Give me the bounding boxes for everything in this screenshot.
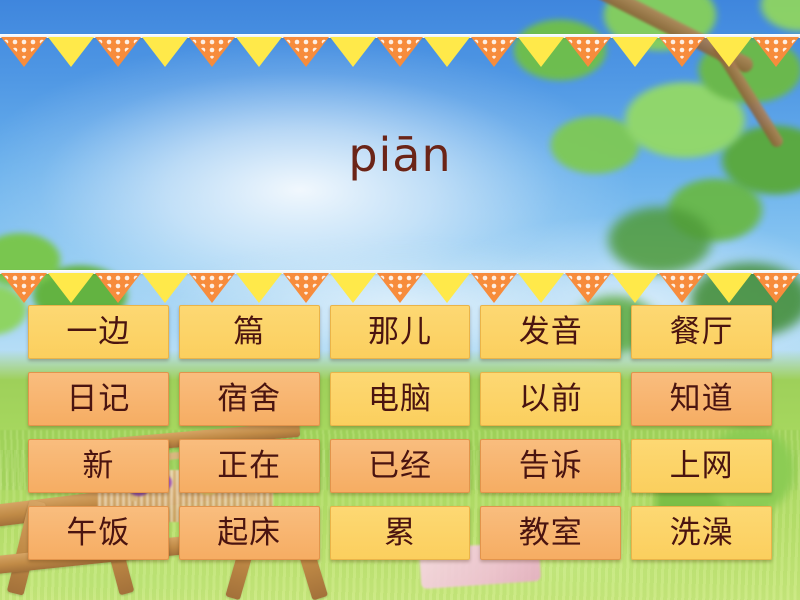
word-tile[interactable]: 篇 [179, 305, 320, 359]
word-tile[interactable]: 知道 [631, 372, 772, 426]
word-tile-grid: 一边篇那儿发音餐厅日记宿舍电脑以前知道新正在已经告诉上网午饭起床累教室洗澡 [28, 305, 772, 560]
word-tile[interactable]: 累 [330, 506, 471, 560]
word-tile[interactable]: 那儿 [330, 305, 471, 359]
word-tile[interactable]: 午饭 [28, 506, 169, 560]
word-tile[interactable]: 新 [28, 439, 169, 493]
word-tile[interactable]: 日记 [28, 372, 169, 426]
word-tile[interactable]: 宿舍 [179, 372, 320, 426]
page-title: piān [0, 128, 800, 182]
word-tile[interactable]: 餐厅 [631, 305, 772, 359]
word-tile[interactable]: 一边 [28, 305, 169, 359]
word-tile[interactable]: 已经 [330, 439, 471, 493]
word-tile[interactable]: 电脑 [330, 372, 471, 426]
word-tile[interactable]: 告诉 [480, 439, 621, 493]
word-tile[interactable]: 起床 [179, 506, 320, 560]
game-stage: piān 一边篇那儿发音餐厅日记宿舍电脑以前知道新正在已经告诉上网午饭起床累教室… [0, 0, 800, 600]
word-tile[interactable]: 发音 [480, 305, 621, 359]
word-tile[interactable]: 洗澡 [631, 506, 772, 560]
word-tile[interactable]: 教室 [480, 506, 621, 560]
word-tile[interactable]: 以前 [480, 372, 621, 426]
word-tile[interactable]: 上网 [631, 439, 772, 493]
word-tile[interactable]: 正在 [179, 439, 320, 493]
